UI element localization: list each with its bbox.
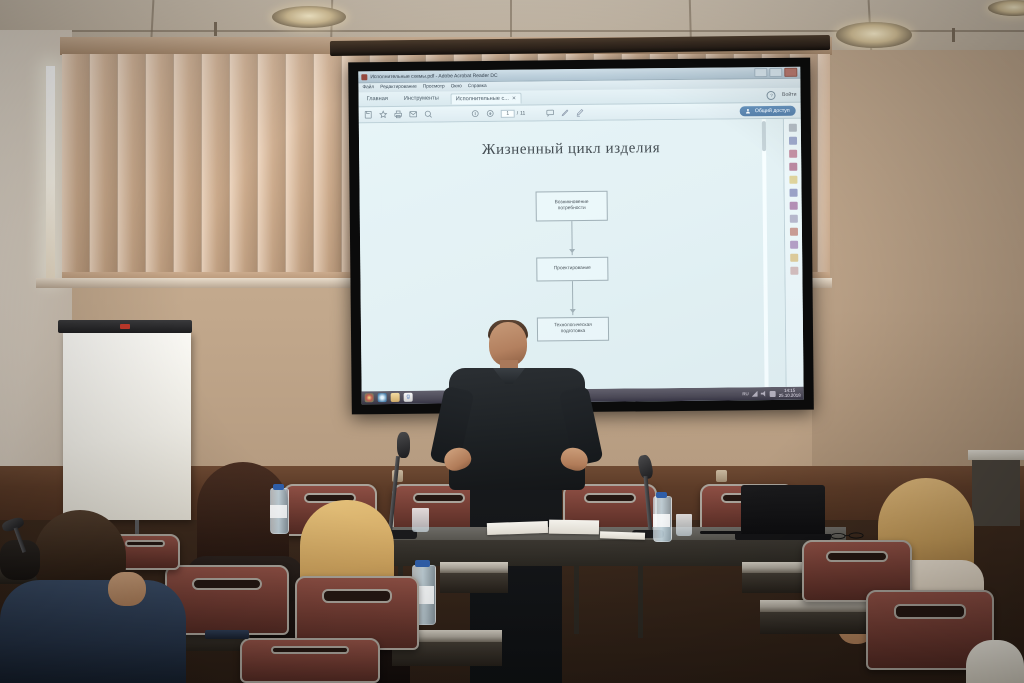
save-icon[interactable] <box>364 110 373 119</box>
create-pdf-icon[interactable] <box>789 150 797 158</box>
acrobat-reader-window: Исполнительные схемы.pdf - Adobe Acrobat… <box>358 67 803 405</box>
flow-node-2: Проектирование <box>536 257 608 282</box>
folder-icon[interactable] <box>391 393 400 402</box>
close-button[interactable] <box>784 68 797 77</box>
network-icon[interactable] <box>752 391 758 397</box>
table-leg <box>638 566 643 638</box>
microphone-head <box>397 432 410 458</box>
bottle-cap <box>273 484 284 490</box>
tab-home[interactable]: Главная <box>363 94 392 104</box>
maximize-button[interactable] <box>769 68 782 77</box>
scrollbar-thumb[interactable] <box>762 121 766 151</box>
share-label: Общий доступ <box>755 107 790 113</box>
tools-rail <box>783 119 804 387</box>
bottle-label <box>270 505 287 518</box>
star-icon[interactable] <box>379 110 388 119</box>
flow-node-1: Возникновение потребности <box>536 191 608 222</box>
zoom-search-icon[interactable] <box>424 110 433 119</box>
table-leg <box>574 566 579 634</box>
handout-papers <box>487 521 548 535</box>
drinking-glass <box>412 508 429 532</box>
battery-icon[interactable] <box>770 390 776 396</box>
window-light-gap <box>46 66 55 278</box>
fill-sign-icon[interactable] <box>789 202 797 210</box>
share-user-icon <box>746 108 752 114</box>
ceiling-downlight <box>988 0 1024 16</box>
attendee-foreground-right <box>966 640 1024 683</box>
drinking-glass <box>676 514 692 536</box>
eyeglasses <box>828 532 868 539</box>
document-area: Жизненный цикл изделия Возникновение пот… <box>359 119 804 392</box>
comment-tool-icon[interactable] <box>789 176 797 184</box>
organize-pages-icon[interactable] <box>789 163 797 171</box>
rotate-icon[interactable] <box>471 109 480 118</box>
redact-icon[interactable] <box>790 267 798 275</box>
help-icon[interactable]: ? <box>767 90 776 99</box>
stamp-icon[interactable] <box>789 215 797 223</box>
tab-tools[interactable]: Инструменты <box>400 93 443 103</box>
print-icon[interactable] <box>394 110 403 119</box>
flipchart-paper <box>63 332 191 520</box>
certificate-icon[interactable] <box>789 228 797 236</box>
laptop-screen <box>741 485 825 535</box>
sign-in-button[interactable]: Войти <box>782 92 797 98</box>
taskbar-clock[interactable]: 14:15 25.10.2018 <box>779 389 801 398</box>
menu-item-help[interactable]: Справка <box>468 84 487 89</box>
menu-item-view[interactable]: Просмотр <box>423 84 445 89</box>
projected-image: Исполнительные схемы.pdf - Adobe Acrobat… <box>358 67 803 405</box>
clock-date: 25.10.2018 <box>779 393 801 398</box>
menu-item-file[interactable]: Файл <box>362 85 374 90</box>
laptop-cable <box>700 531 742 534</box>
ceiling-hook <box>952 28 955 42</box>
desk <box>440 562 508 573</box>
flow-arrowhead-2 <box>570 309 576 313</box>
highlight-icon[interactable] <box>575 108 584 117</box>
comment-icon[interactable] <box>545 108 554 117</box>
flipchart-brand-label <box>120 324 130 329</box>
minimize-button[interactable] <box>754 68 767 77</box>
ceiling-downlight <box>836 22 912 48</box>
desk-front <box>440 573 508 593</box>
side-table <box>968 450 1024 460</box>
slide-title: Жизненный цикл изделия <box>359 139 783 160</box>
wall-outlet <box>716 470 727 482</box>
search-tool-icon[interactable] <box>788 124 796 132</box>
ceiling-hook <box>214 22 217 36</box>
pdf-page: Жизненный цикл изделия Возникновение пот… <box>359 119 786 391</box>
side-table-body <box>972 460 1020 526</box>
page-total: 11 <box>520 110 525 116</box>
share-button[interactable]: Общий доступ <box>740 105 796 116</box>
volume-icon[interactable] <box>761 391 767 397</box>
desk-front <box>760 612 880 634</box>
pen-icon[interactable] <box>560 108 569 117</box>
menu-item-window[interactable]: Окно <box>451 84 462 89</box>
projector-screen: Исполнительные схемы.pdf - Adobe Acrobat… <box>348 58 814 415</box>
ceiling-downlight <box>272 6 346 28</box>
edit-pdf-icon[interactable] <box>790 241 798 249</box>
bottle-cap <box>415 560 430 567</box>
google-icon[interactable]: g <box>404 393 413 402</box>
bottle-label <box>653 514 670 527</box>
email-icon[interactable] <box>409 110 418 119</box>
page-current-input[interactable]: 1 <box>501 109 515 117</box>
combine-files-icon[interactable] <box>790 254 798 262</box>
tray-language[interactable]: RU <box>742 391 748 396</box>
internet-explorer-icon[interactable] <box>378 393 387 402</box>
send-for-comments-icon[interactable] <box>789 189 797 197</box>
flow-node-3: Технологическая подготовка <box>537 317 609 342</box>
menu-item-edit[interactable]: Редактирование <box>380 85 417 90</box>
window-title: Исполнительные схемы.pdf - Adobe Acrobat… <box>370 72 497 79</box>
right-wall <box>812 50 1024 480</box>
attendee-foreground-left-hand <box>108 572 146 606</box>
attendee-foreground-left-torso <box>0 580 186 683</box>
download-icon[interactable] <box>486 109 495 118</box>
conference-room-photo: Исполнительные схемы.pdf - Adobe Acrobat… <box>0 0 1024 683</box>
chair <box>240 638 380 683</box>
flow-arrowhead-1 <box>569 249 575 253</box>
acrobat-logo-icon <box>361 74 367 80</box>
tab-document[interactable]: Исполнительные с... ✕ <box>451 92 521 104</box>
scrollbar-track[interactable] <box>762 119 769 387</box>
close-icon[interactable]: ✕ <box>512 95 516 101</box>
presenter-torso <box>449 368 585 490</box>
tablet-device <box>205 630 249 639</box>
page-navigator[interactable]: 1 / 11 <box>501 109 526 117</box>
chrome-icon[interactable] <box>365 393 374 402</box>
tab-document-label: Исполнительные с... <box>456 95 509 102</box>
bottle-cap <box>656 492 667 498</box>
page-separator: / <box>517 110 518 116</box>
export-pdf-icon[interactable] <box>788 137 796 145</box>
handout-papers <box>549 520 599 535</box>
